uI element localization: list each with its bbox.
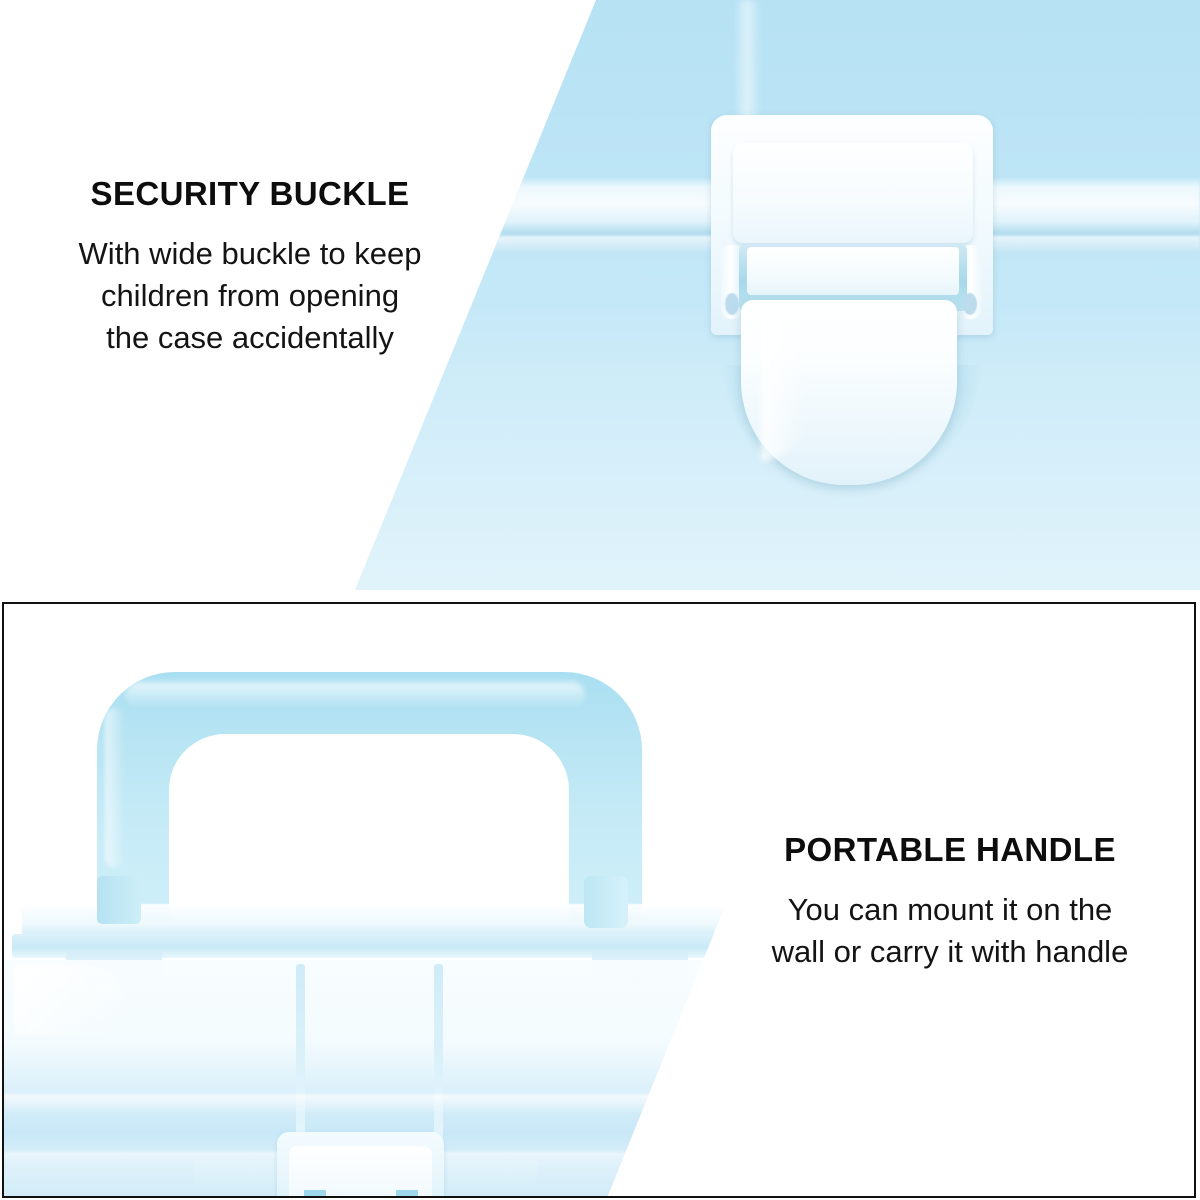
carry-handle: [97, 672, 642, 922]
buckle-tab-highlight: [761, 311, 807, 461]
security-buckle-text-block: SECURITY BUCKLE With wide buckle to keep…: [0, 176, 500, 359]
case-seam-upper: [4, 1094, 764, 1114]
buckle-top-lip: [733, 143, 973, 243]
feature-panel-security-buckle: SECURITY BUCKLE With wide buckle to keep…: [0, 0, 1200, 590]
lower-buckle-foot-left: [304, 1190, 326, 1198]
description-line: children from opening: [0, 275, 500, 317]
description-line: wall or carry it with handle: [704, 931, 1196, 973]
buckle-pin-right: [963, 293, 977, 315]
security-buckle-title: SECURITY BUCKLE: [0, 176, 500, 213]
lower-buckle-foot-right: [396, 1190, 418, 1198]
feature-panel-portable-handle: PORTABLE HANDLE You can mount it on the …: [2, 602, 1196, 1198]
portable-handle-text-block: PORTABLE HANDLE You can mount it on the …: [704, 832, 1196, 973]
handle-top-gloss: [125, 682, 585, 708]
buckle-tongue: [747, 247, 959, 295]
portable-handle-title: PORTABLE HANDLE: [704, 832, 1196, 869]
infographic-page: SECURITY BUCKLE With wide buckle to keep…: [0, 0, 1200, 1200]
description-line: You can mount it on the: [704, 889, 1196, 931]
description-line: With wide buckle to keep: [0, 233, 500, 275]
handle-post-left: [97, 876, 141, 924]
case-front-ledge-left: [194, 1160, 274, 1194]
portable-handle-description: You can mount it on the wall or carry it…: [704, 889, 1196, 973]
case-front-ledge-right: [447, 1160, 537, 1194]
security-buckle-description: With wide buckle to keep children from o…: [0, 233, 500, 359]
handle-left-gloss: [105, 708, 125, 868]
buckle-pin-left: [725, 293, 739, 315]
security-buckle-latch: [705, 115, 997, 485]
description-line: the case accidentally: [0, 317, 500, 359]
handle-post-right: [584, 876, 628, 928]
case-body-highlight: [14, 966, 124, 1036]
panel-divider-gap: [0, 590, 1200, 602]
